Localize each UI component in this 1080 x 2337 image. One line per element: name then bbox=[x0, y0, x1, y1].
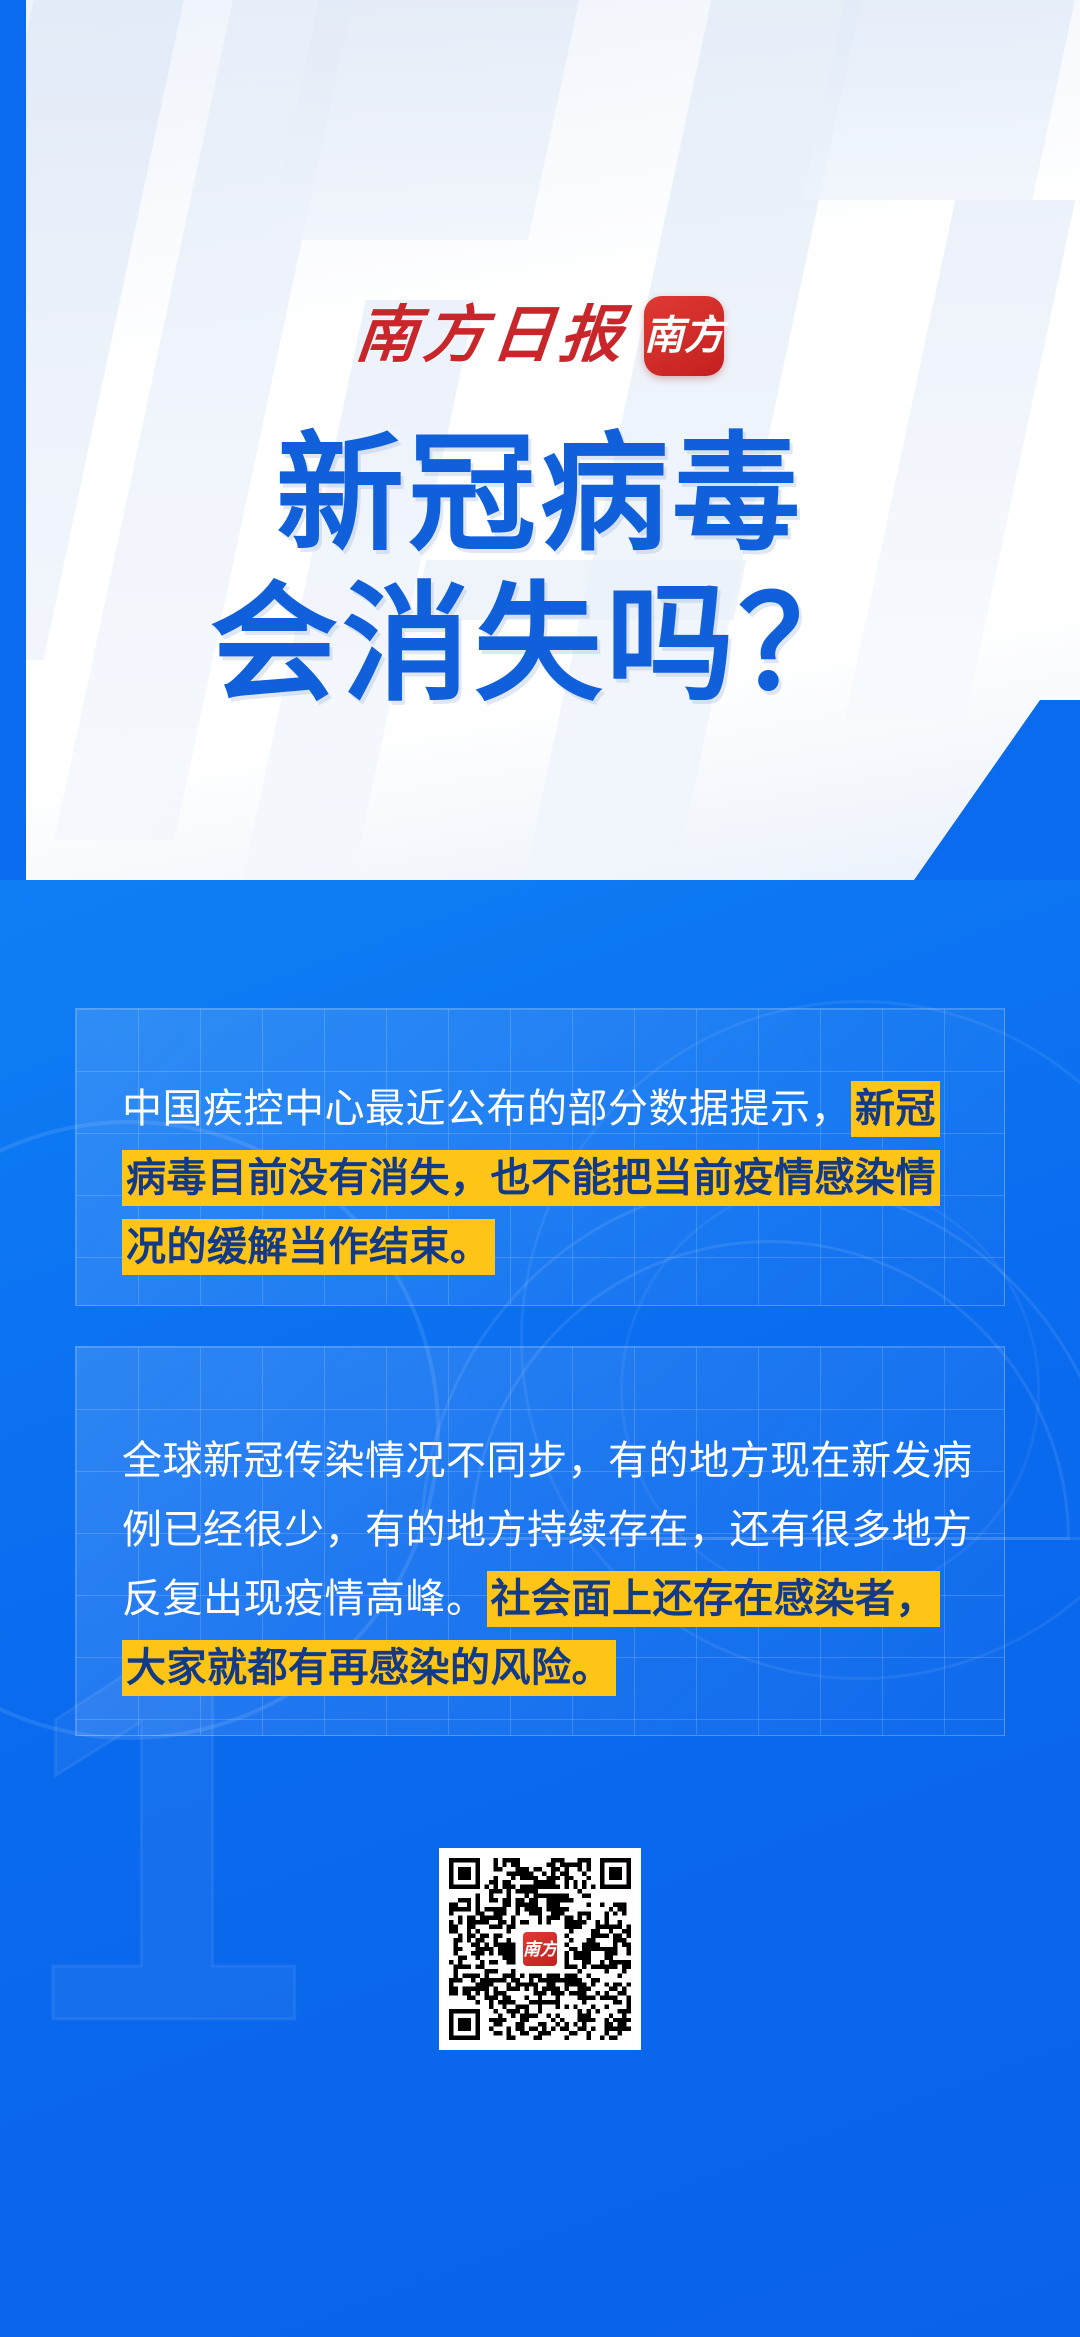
page-title-line2: 会消失吗？ bbox=[0, 570, 1080, 720]
publisher-logo: 南方日报 南方 + bbox=[0, 296, 1080, 376]
nanfang-daily-wordmark: 南方日报 bbox=[353, 305, 632, 367]
page-title: 新冠病毒 会消失吗？ bbox=[0, 420, 1080, 720]
plus-icon: + bbox=[704, 308, 717, 334]
poster-root: 南方日报 南方 + 新冠病毒 会消失吗？ 1 中国疾控中心最近公布的部分数据提示… bbox=[0, 0, 1080, 2337]
text-run: 中国疾控中心最近公布的部分数据提示， bbox=[122, 1087, 851, 1131]
watermark-stroke bbox=[802, 0, 1080, 200]
text-block-2: 全球新冠传染情况不同步，有的地方现在新发病例已经很少，有的地方持续存在，还有很多… bbox=[75, 1346, 1005, 1736]
qr-center-logo-label: 南方 bbox=[523, 1941, 557, 1958]
qr-center-logo: 南方 bbox=[520, 1929, 560, 1969]
qr-matrix: 南方 bbox=[449, 1858, 631, 2040]
nanfang-plus-app-icon: 南方 + bbox=[644, 296, 724, 376]
text-block-1: 中国疾控中心最近公布的部分数据提示，新冠病毒目前没有消失，也不能把当前疫情感染情… bbox=[75, 1008, 1005, 1306]
qr-code[interactable]: 南方 bbox=[439, 1848, 641, 2050]
paragraph-1: 中国疾控中心最近公布的部分数据提示，新冠病毒目前没有消失，也不能把当前疫情感染情… bbox=[122, 1075, 974, 1282]
watermark-stroke bbox=[268, 0, 592, 240]
page-title-line1: 新冠病毒 bbox=[276, 423, 804, 566]
paragraph-2: 全球新冠传染情况不同步，有的地方现在新发病例已经很少，有的地方持续存在，还有很多… bbox=[122, 1427, 974, 1703]
